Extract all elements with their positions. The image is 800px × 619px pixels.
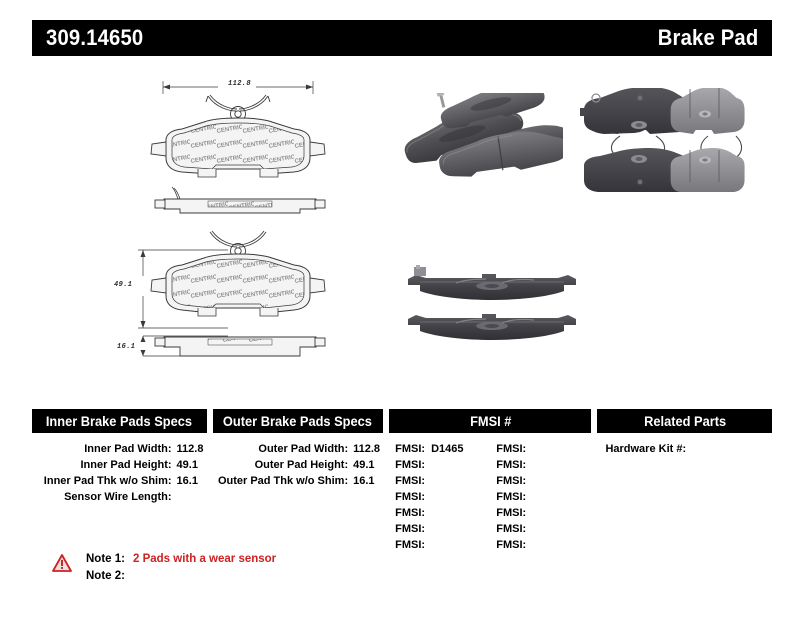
fmsi-row: FMSI: D1465 xyxy=(389,441,490,457)
specs-table-body: Inner Pad Width: 112.8 Inner Pad Height:… xyxy=(32,433,772,553)
fmsi-row: FMSI: xyxy=(490,441,591,457)
specs-table-header-row: Inner Brake Pads Specs Outer Brake Pads … xyxy=(32,409,772,433)
spec-row: Inner Pad Thk w/o Shim: 16.1 xyxy=(32,473,207,489)
spec-label: Outer Pad Width: xyxy=(258,441,348,457)
fmsi-row: FMSI: xyxy=(389,537,490,553)
spec-label: Outer Pad Height: xyxy=(255,457,349,473)
spec-label: Sensor Wire Length: xyxy=(64,489,171,505)
title-bar: 309.14650 Brake Pad xyxy=(32,20,772,56)
fmsi-value: D1465 xyxy=(431,441,463,457)
pad-side-view-drawing-lower xyxy=(118,332,333,377)
product-photo-edge-profile xyxy=(398,265,588,355)
spec-row: Inner Pad Height: 49.1 xyxy=(32,457,207,473)
outer-specs-column: Outer Pad Width: 112.8 Outer Pad Height:… xyxy=(213,441,384,553)
spec-value: 16.1 xyxy=(353,473,383,489)
fmsi-label: FMSI: xyxy=(395,537,425,553)
fmsi-subcolumn-right: FMSI: FMSI: FMSI: FMSI: xyxy=(490,441,591,553)
note-row: Note 1: 2 Pads with a wear sensor xyxy=(86,551,276,568)
fmsi-label: FMSI: xyxy=(496,441,526,457)
spec-row: Outer Pad Width: 112.8 xyxy=(213,441,384,457)
illustrations-area: CENTRIC xyxy=(0,60,800,390)
pad-front-view-drawing: CENTRIC xyxy=(138,78,338,188)
spec-value: 49.1 xyxy=(177,457,207,473)
part-number: 309.14650 xyxy=(46,25,143,51)
fmsi-column: FMSI: D1465 FMSI: FMSI: FMSI: xyxy=(389,441,591,553)
column-header-related-parts: Related Parts xyxy=(597,409,772,433)
spec-label: Inner Pad Height: xyxy=(80,457,171,473)
spec-row: Outer Pad Height: 49.1 xyxy=(213,457,384,473)
fmsi-row: FMSI: xyxy=(389,521,490,537)
fmsi-label: FMSI: xyxy=(395,457,425,473)
product-photo-angled-set xyxy=(398,93,563,185)
fmsi-row: FMSI: xyxy=(389,505,490,521)
fmsi-row: FMSI: xyxy=(389,473,490,489)
dimension-thickness-label: 16.1 xyxy=(117,343,135,351)
specs-table: Inner Brake Pads Specs Outer Brake Pads … xyxy=(32,409,772,553)
fmsi-row: FMSI: xyxy=(490,489,591,505)
fmsi-row: FMSI: xyxy=(490,537,591,553)
fmsi-label: FMSI: xyxy=(496,457,526,473)
spec-row: Inner Pad Width: 112.8 xyxy=(32,441,207,457)
related-part-label: Hardware Kit #: xyxy=(605,443,686,455)
fmsi-subcolumn-left: FMSI: D1465 FMSI: FMSI: FMSI: xyxy=(389,441,490,553)
note-label: Note 1: xyxy=(86,551,125,568)
note-row: Note 2: xyxy=(86,568,276,585)
spec-label: Inner Pad Thk w/o Shim: xyxy=(44,473,172,489)
fmsi-label: FMSI: xyxy=(395,521,425,537)
fmsi-row: FMSI: xyxy=(490,473,591,489)
pad-side-view-drawing-upper xyxy=(150,185,330,230)
fmsi-row: FMSI: xyxy=(490,505,591,521)
spec-value: 112.8 xyxy=(353,441,383,457)
note-label: Note 2: xyxy=(86,568,125,585)
fmsi-label: FMSI: xyxy=(496,473,526,489)
spec-label: Outer Pad Thk w/o Shim: xyxy=(218,473,348,489)
fmsi-label: FMSI: xyxy=(395,505,425,521)
related-parts-column: Hardware Kit #: xyxy=(597,441,772,553)
spec-value: 49.1 xyxy=(353,457,383,473)
fmsi-row: FMSI: xyxy=(389,457,490,473)
spec-label: Inner Pad Width: xyxy=(84,441,171,457)
note-lines: Note 1: 2 Pads with a wear sensor Note 2… xyxy=(86,551,276,585)
fmsi-label: FMSI: xyxy=(395,489,425,505)
column-header-fmsi: FMSI # xyxy=(389,409,591,433)
related-part-row: Hardware Kit #: xyxy=(597,441,772,457)
fmsi-label: FMSI: xyxy=(496,537,526,553)
warning-triangle-icon xyxy=(52,554,72,572)
fmsi-row: FMSI: xyxy=(490,457,591,473)
column-header-outer-specs: Outer Brake Pads Specs xyxy=(213,409,384,433)
fmsi-label: FMSI: xyxy=(395,441,425,457)
dimension-width-label: 112.8 xyxy=(228,80,251,88)
notes-section: Note 1: 2 Pads with a wear sensor Note 2… xyxy=(52,551,276,585)
spec-row: Sensor Wire Length: xyxy=(32,489,207,505)
spec-value: 112.8 xyxy=(177,441,207,457)
column-header-inner-specs: Inner Brake Pads Specs xyxy=(32,409,207,433)
product-photo-pad-pairs xyxy=(580,88,745,193)
fmsi-row: FMSI: xyxy=(490,521,591,537)
inner-specs-column: Inner Pad Width: 112.8 Inner Pad Height:… xyxy=(32,441,207,553)
pad-front-view-drawing-2 xyxy=(138,228,338,343)
fmsi-label: FMSI: xyxy=(496,489,526,505)
spec-row: Outer Pad Thk w/o Shim: 16.1 xyxy=(213,473,384,489)
spec-value: 16.1 xyxy=(177,473,207,489)
fmsi-label: FMSI: xyxy=(395,473,425,489)
note-value: 2 Pads with a wear sensor xyxy=(133,551,276,568)
dimension-height-label: 49.1 xyxy=(114,281,132,289)
fmsi-label: FMSI: xyxy=(496,521,526,537)
fmsi-label: FMSI: xyxy=(496,505,526,521)
product-type-label: Brake Pad xyxy=(657,25,758,51)
spec-sheet-page: 309.14650 Brake Pad CENTRIC xyxy=(0,0,800,619)
fmsi-row: FMSI: xyxy=(389,489,490,505)
